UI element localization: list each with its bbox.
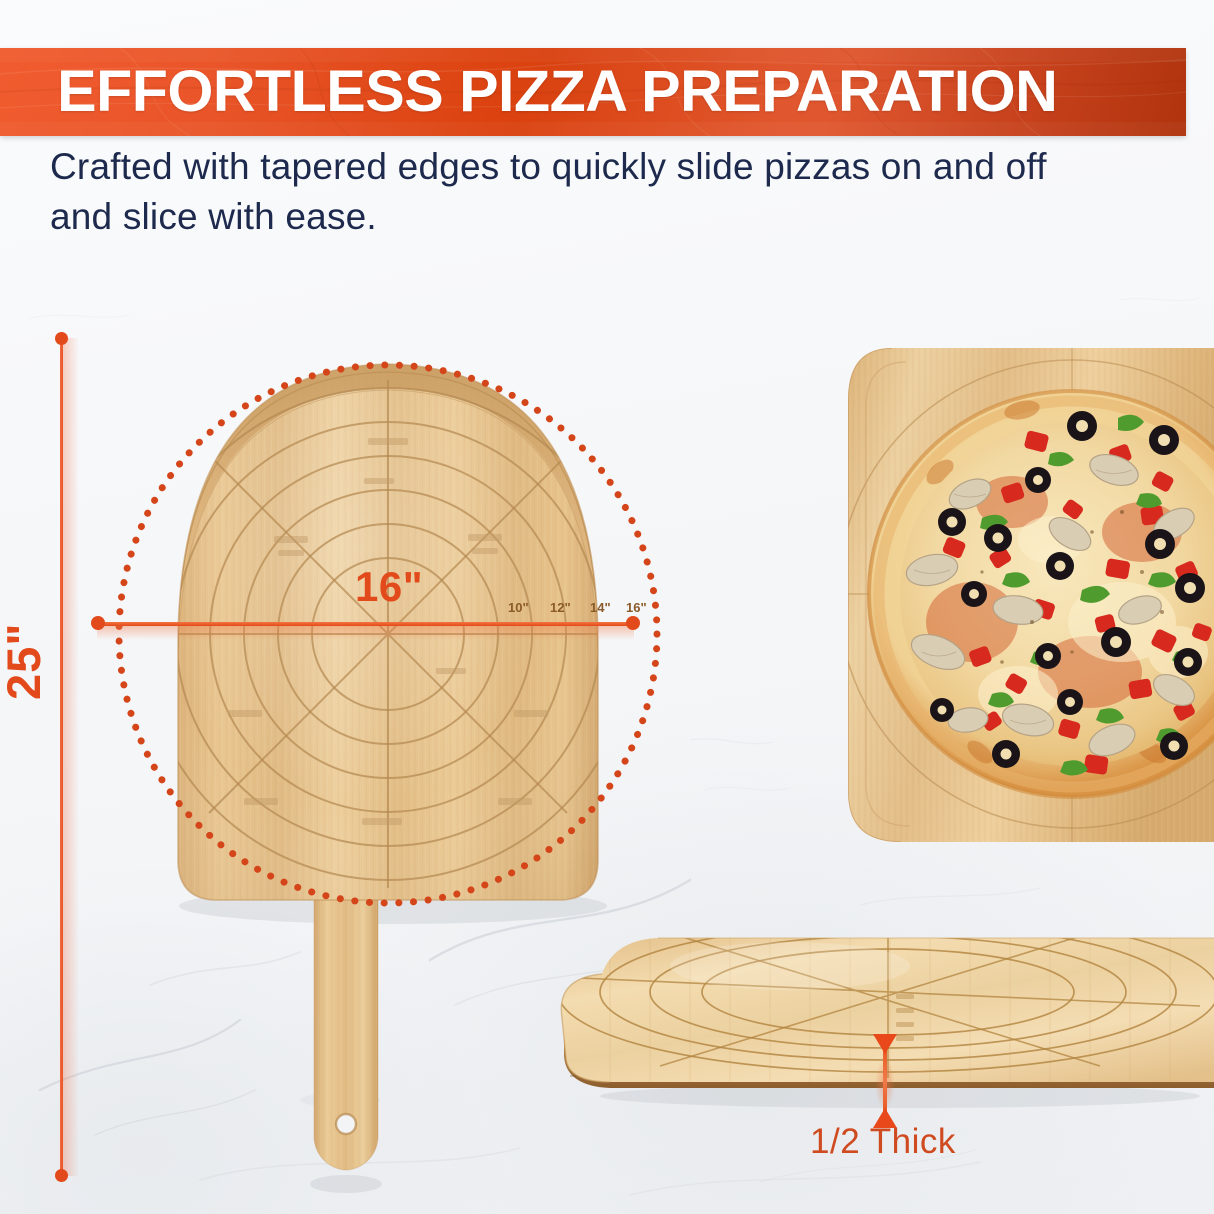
thickness-line (883, 1044, 887, 1116)
header-banner: EFFORTLESS PIZZA PREPARATION (0, 48, 1186, 136)
ruler-tick-10: 10" (508, 600, 529, 615)
pizza-on-board-image (822, 322, 1214, 882)
ruler-tick-labels: 10" 12" 14" 16" (500, 600, 640, 622)
width-dimension-line (97, 622, 634, 626)
infographic-canvas: EFFORTLESS PIZZA PREPARATION Crafted wit… (0, 0, 1214, 1214)
page-title: EFFORTLESS PIZZA PREPARATION (0, 48, 1186, 136)
subtitle-text: Crafted with tapered edges to quickly sl… (50, 142, 1100, 242)
ruler-tick-14: 14" (590, 600, 611, 615)
engraved-slice-guides (134, 380, 642, 888)
ruler-tick-12: 12" (550, 600, 571, 615)
ruler-tick-16: 16" (626, 600, 647, 615)
thickness-dimension-marker (873, 1030, 897, 1128)
height-dimension-glow (63, 338, 79, 1176)
thickness-label: 1/2 Thick (810, 1122, 956, 1162)
height-dimension-line (60, 338, 63, 1176)
thickness-arrow-down-icon (873, 1034, 897, 1054)
width-dimension-label: 16" (355, 563, 423, 611)
height-dimension-label: 25" (0, 622, 51, 700)
